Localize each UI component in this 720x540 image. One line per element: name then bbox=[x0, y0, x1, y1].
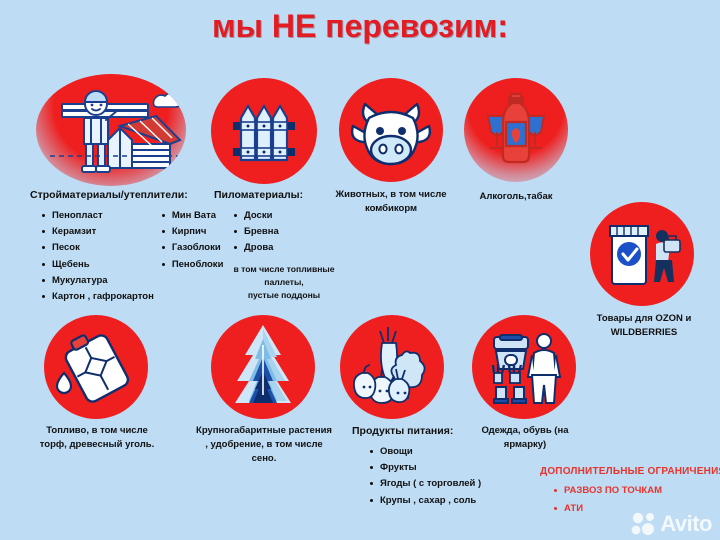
list-item: Песок bbox=[42, 240, 154, 256]
bullets-building-materials-right: Мин Вата Кирпич Газоблоки Пеноблоки bbox=[154, 208, 224, 306]
list-item: РАЗВОЗ ПО ТОЧКАМ bbox=[554, 482, 718, 500]
fir-tree-icon bbox=[211, 315, 315, 419]
caption-clothes: Одежда, обувь (на ярмарку) bbox=[468, 424, 582, 452]
note-lumber: в том числе топливные паллеты, пустые по… bbox=[214, 263, 354, 303]
list-item: Пенопласт bbox=[42, 208, 154, 224]
heading-building-materials: Стройматериалы/утеплители: bbox=[30, 188, 220, 203]
list-item: Дрова bbox=[234, 240, 354, 256]
list-item: Бревна bbox=[234, 224, 354, 240]
avito-wordmark: Avito bbox=[660, 513, 712, 535]
page-title: мы НЕ перевозим: bbox=[0, 8, 720, 45]
block-building-materials: Стройматериалы/утеплители: Пенопласт Кер… bbox=[30, 188, 220, 306]
caption-animals: Животных, в том числе комбикорм bbox=[330, 188, 452, 216]
vegetables-icon bbox=[340, 315, 444, 419]
icon-animals bbox=[339, 78, 443, 182]
icon-clothes bbox=[472, 315, 576, 419]
caption-fuel: Топливо, в том числе торф, древесный уго… bbox=[34, 424, 160, 452]
list-item: Крупы , сахар , соль bbox=[370, 493, 512, 509]
list-item: Керамзит bbox=[42, 224, 154, 240]
picket-fence-icon bbox=[211, 78, 317, 184]
icon-fuel bbox=[44, 315, 148, 419]
fuel-canister-icon bbox=[44, 315, 148, 419]
bullets-food: Овощи Фрукты Ягоды ( с торговлей ) Крупы… bbox=[352, 444, 512, 509]
icon-alcohol bbox=[464, 78, 568, 182]
cow-head-icon bbox=[339, 78, 443, 182]
list-item: Ягоды ( с торговлей ) bbox=[370, 476, 512, 492]
avito-watermark: Avito bbox=[631, 512, 712, 536]
wine-bottle-glasses-icon bbox=[464, 78, 568, 182]
caption-alcohol: Алкоголь,табак bbox=[464, 190, 568, 204]
icon-plants bbox=[211, 315, 315, 419]
avito-dots-logo bbox=[631, 512, 657, 536]
icon-marketplace bbox=[590, 202, 694, 306]
poster-canvas: мы НЕ перевозим: bbox=[0, 0, 720, 540]
online-store-icon bbox=[590, 202, 694, 306]
clothing-icon bbox=[472, 315, 576, 419]
bullets-building-materials-left: Пенопласт Керамзит Песок Щебень Мукулату… bbox=[30, 208, 154, 306]
list-item: Фрукты bbox=[370, 460, 512, 476]
heading-restrictions: ДОПОЛНИТЕЛЬНЫЕ ОГРАНИЧЕНИЯ: bbox=[540, 466, 718, 477]
icon-food bbox=[340, 315, 444, 419]
list-item: Мукулатура bbox=[42, 273, 154, 289]
icon-lumber bbox=[211, 78, 317, 184]
list-item: Картон , гафрокартон bbox=[42, 289, 154, 305]
caption-plants: Крупногабаритные растения , удобрение, в… bbox=[182, 424, 346, 465]
list-item: Щебень bbox=[42, 257, 154, 273]
builder-house-icon bbox=[36, 74, 186, 186]
caption-marketplace: Товары для OZON и WILDBERRIES bbox=[576, 312, 712, 340]
icon-building-materials bbox=[36, 74, 186, 186]
